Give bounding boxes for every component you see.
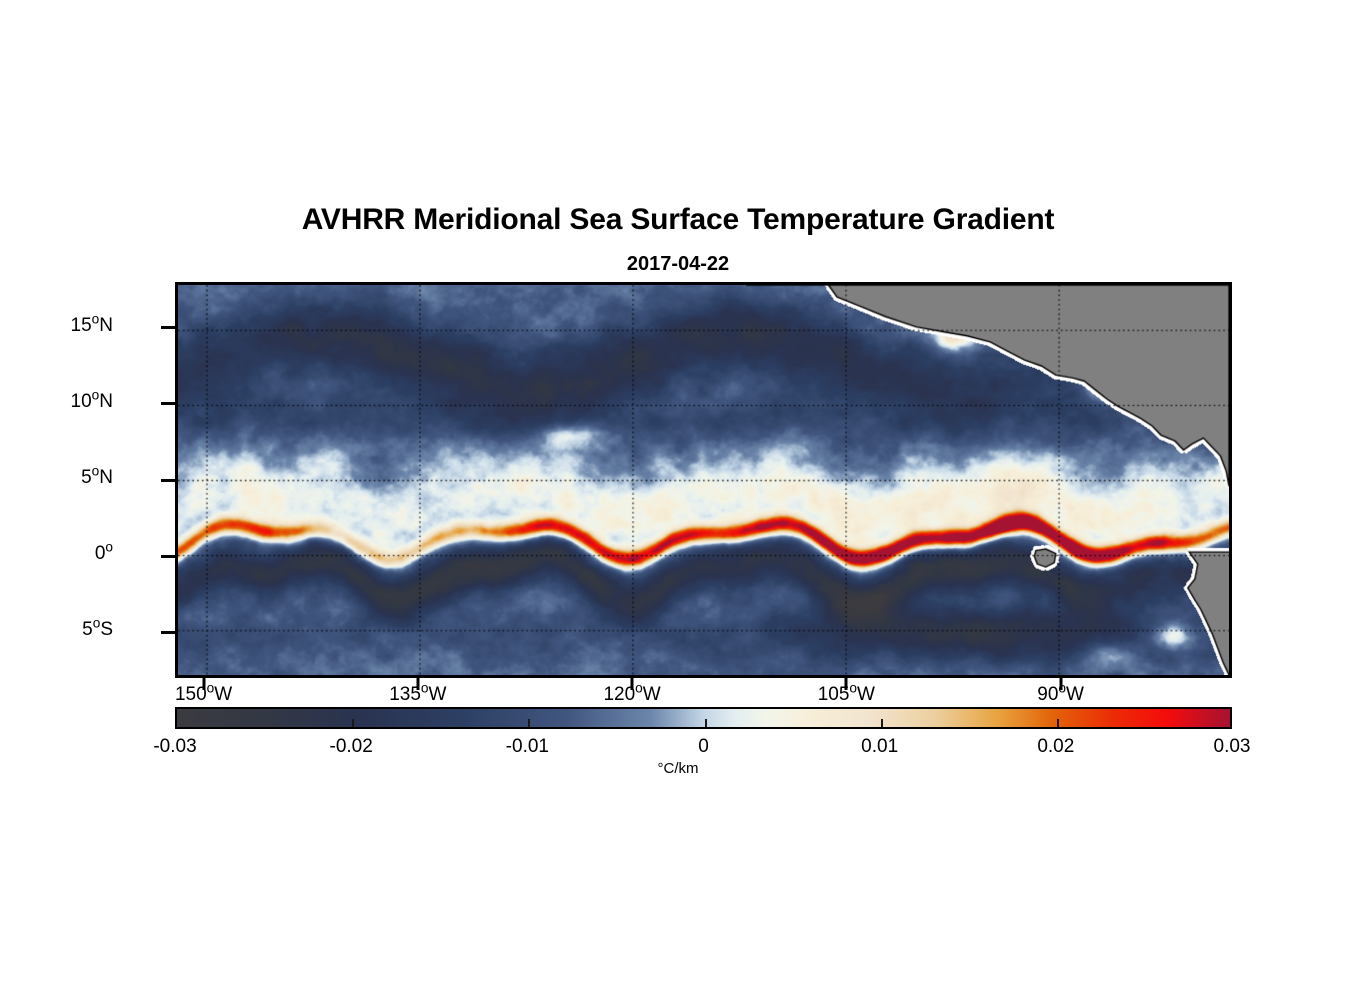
- y-tick-mark: [161, 479, 175, 482]
- colorbar-tick-mark: [705, 719, 707, 727]
- y-tick-mark: [161, 402, 175, 405]
- colorbar-tick-mark: [528, 719, 530, 727]
- x-tick-label-4: 90oW: [1037, 684, 1084, 706]
- colorbar-tick-label-3: 0: [698, 736, 709, 758]
- colorbar-tick-label-4: 0.01: [861, 736, 898, 758]
- x-tick-label-2: 120oW: [603, 684, 660, 706]
- colorbar-tick-label-1: -0.02: [330, 736, 373, 758]
- colorbar-tick-label-5: 0.02: [1037, 736, 1074, 758]
- figure-subtitle: 2017-04-22: [0, 253, 1356, 276]
- colorbar-gradient: [177, 709, 1230, 727]
- y-tick-mark: [161, 555, 175, 558]
- y-tick-mark: [161, 631, 175, 634]
- colorbar[interactable]: [175, 707, 1232, 729]
- colorbar-unit-label: °C/km: [0, 760, 1356, 777]
- x-tick-label-1: 135oW: [389, 684, 446, 706]
- colorbar-tick-mark: [881, 719, 883, 727]
- colorbar-tick-label-2: -0.01: [506, 736, 549, 758]
- y-tick-label-2: 5oN: [81, 467, 113, 489]
- y-tick-label-3: 0o: [95, 543, 113, 565]
- colorbar-tick-mark: [352, 719, 354, 727]
- x-tick-label-3: 105oW: [818, 684, 875, 706]
- colorbar-tick-label-6: 0.03: [1214, 736, 1251, 758]
- y-tick-mark: [161, 326, 175, 329]
- y-tick-label-0: 15oN: [71, 315, 113, 337]
- y-tick-label-1: 10oN: [71, 391, 113, 413]
- y-tick-label-4: 5oS: [82, 619, 113, 641]
- figure-canvas: AVHRR Meridional Sea Surface Temperature…: [0, 0, 1356, 1000]
- map-axes[interactable]: [175, 282, 1232, 678]
- sst-gradient-heatmap: [178, 285, 1229, 675]
- colorbar-tick-label-0: -0.03: [153, 736, 196, 758]
- figure-title: AVHRR Meridional Sea Surface Temperature…: [0, 203, 1356, 237]
- x-tick-label-0: 150oW: [175, 684, 232, 706]
- colorbar-tick-mark: [1057, 719, 1059, 727]
